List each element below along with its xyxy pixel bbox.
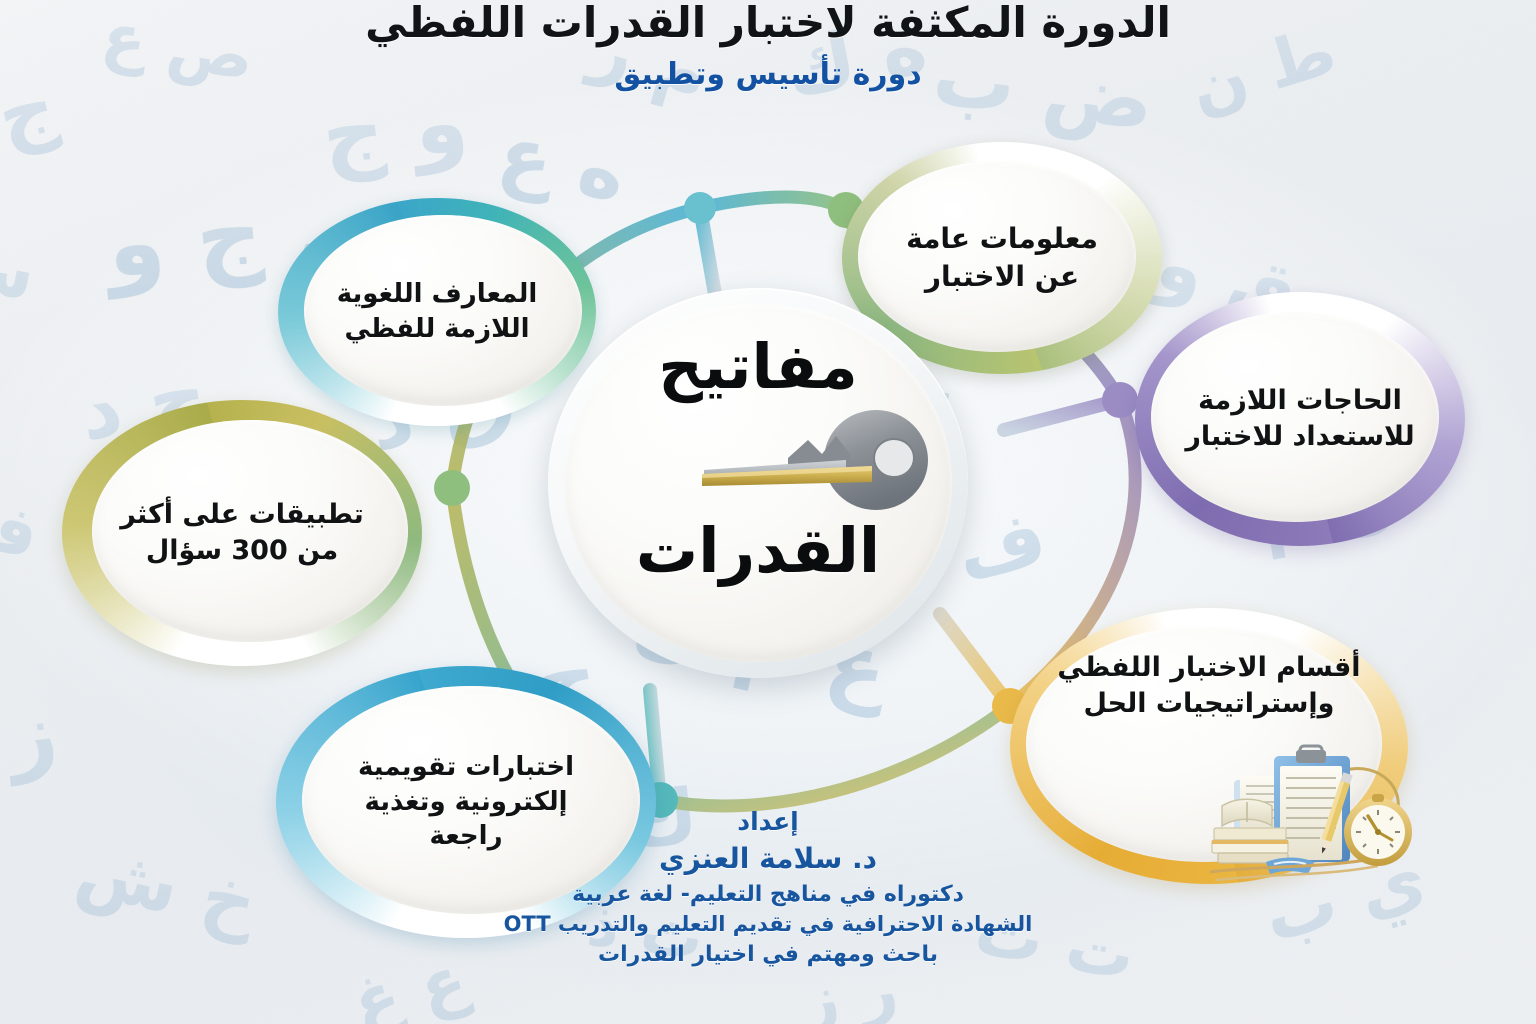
- key-icon: [696, 396, 936, 546]
- center-bubble[interactable]: مفاتيح القدرات: [548, 288, 968, 678]
- page-title: الدورة المكثفة لاختبار القدرات اللفظي: [0, 0, 1536, 45]
- credits-block: إعداد د. سلامة العنزي دكتوراه في مناهج ا…: [0, 806, 1536, 969]
- page-subtitle: دورة تأسيس وتطبيق: [0, 57, 1536, 92]
- node-bubble-needs[interactable]: الحاجات اللازمةللاستعداد للاختبار: [1135, 292, 1465, 546]
- node-label-apps: تطبيقات على أكثرمن 300 سؤال: [114, 497, 370, 569]
- center-line-1: مفاتيح: [548, 336, 968, 398]
- poster-header: الدورة المكثفة لاختبار القدرات اللفظي دو…: [0, 0, 1536, 92]
- credit-line-role: باحث ومهتم في اختيار القدرات: [0, 941, 1536, 970]
- credit-line-author-name: د. سلامة العنزي: [0, 841, 1536, 877]
- poster-canvas: ج ل ص ع و ج م ر ه ك ض ب ط ن س ق ح د ف ي …: [0, 0, 1536, 1024]
- node-label-parts: أقسام الاختبار اللفظيوإستراتيجيات الحل: [1010, 650, 1408, 722]
- node-label-info: معلومات عامةعن الاختبار: [900, 220, 1104, 295]
- node-bubble-apps[interactable]: تطبيقات على أكثرمن 300 سؤال: [62, 400, 422, 666]
- node-label-lang: المعارف اللغويةاللازمة للفظي: [331, 277, 544, 347]
- credit-line-certificate: الشهادة الاحترافية في تقديم التعليم والت…: [0, 911, 1536, 938]
- node-label-needs: الحاجات اللازمةللاستعداد للاختبار: [1179, 383, 1420, 455]
- credit-line-degree: دكتوراه في مناهج التعليم- لغة عربية: [0, 881, 1536, 910]
- credit-line-prepared-by: إعداد: [0, 806, 1536, 839]
